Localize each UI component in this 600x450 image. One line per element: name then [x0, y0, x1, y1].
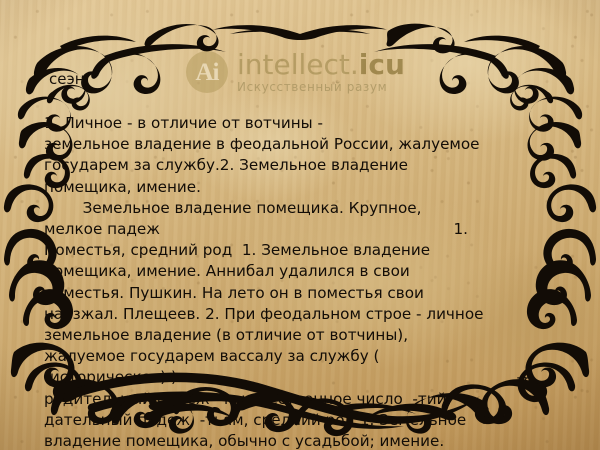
paragraph-5-left: (историческое) ). [44, 367, 182, 388]
paragraph-6-line-1: родительный падеж множественное число -т… [44, 389, 556, 410]
paragraph-2-indented: Земельное владение помещика. Крупное, [44, 198, 556, 219]
paragraph-1-line-4: помещика, имение. [44, 177, 556, 198]
paragraph-4-line-5: земельное владение (в отличие от вотчины… [44, 325, 556, 346]
parchment-slide: Ai intellect.icu Искусственный разум сеэ… [0, 0, 600, 450]
paragraph-6-line-3: владение помещика, обычно с усадьбой; им… [44, 431, 556, 450]
paragraph-4-line-2: помещика, имение. Аннибал удалился в сво… [44, 261, 556, 282]
paragraph-4-line-3: поместья. Пушкин. На лето он в поместья … [44, 283, 556, 304]
paragraph-4-line-4: наезжал. Плещеев. 2. При феодальном стро… [44, 304, 556, 325]
paragraph-1-line-1: 1. Личное - в отличие от вотчины - [44, 113, 556, 134]
paragraph-3-left: мелкое падеж [44, 219, 160, 240]
paragraph-1-line-3: государем за службу.2. Земельное владени… [44, 155, 556, 176]
paragraph-4-line-6: жалуемое государем вассалу за службу ( [44, 346, 556, 367]
paragraph-3-right: 1. [454, 219, 557, 240]
paragraph-5-right: -я, [517, 367, 556, 388]
heading-word: сеэн [49, 70, 85, 88]
paragraph-6-line-2: дательный падеж -тьям, средний род 1. Зе… [44, 410, 556, 431]
paragraph-1-line-2: земельное владение в феодальной России, … [44, 134, 556, 155]
definition-body: 1. Личное - в отличие от вотчины - земел… [44, 113, 556, 450]
paragraph-5-split-row: (историческое) ). -я, [44, 367, 556, 388]
paragraph-4-line-1: Поместья, средний род 1. Земельное владе… [44, 240, 556, 261]
slide-text-content: сеэн 1. Личное - в отличие от вотчины - … [0, 0, 600, 450]
paragraph-3-split-row: мелкое падеж 1. [44, 219, 556, 240]
